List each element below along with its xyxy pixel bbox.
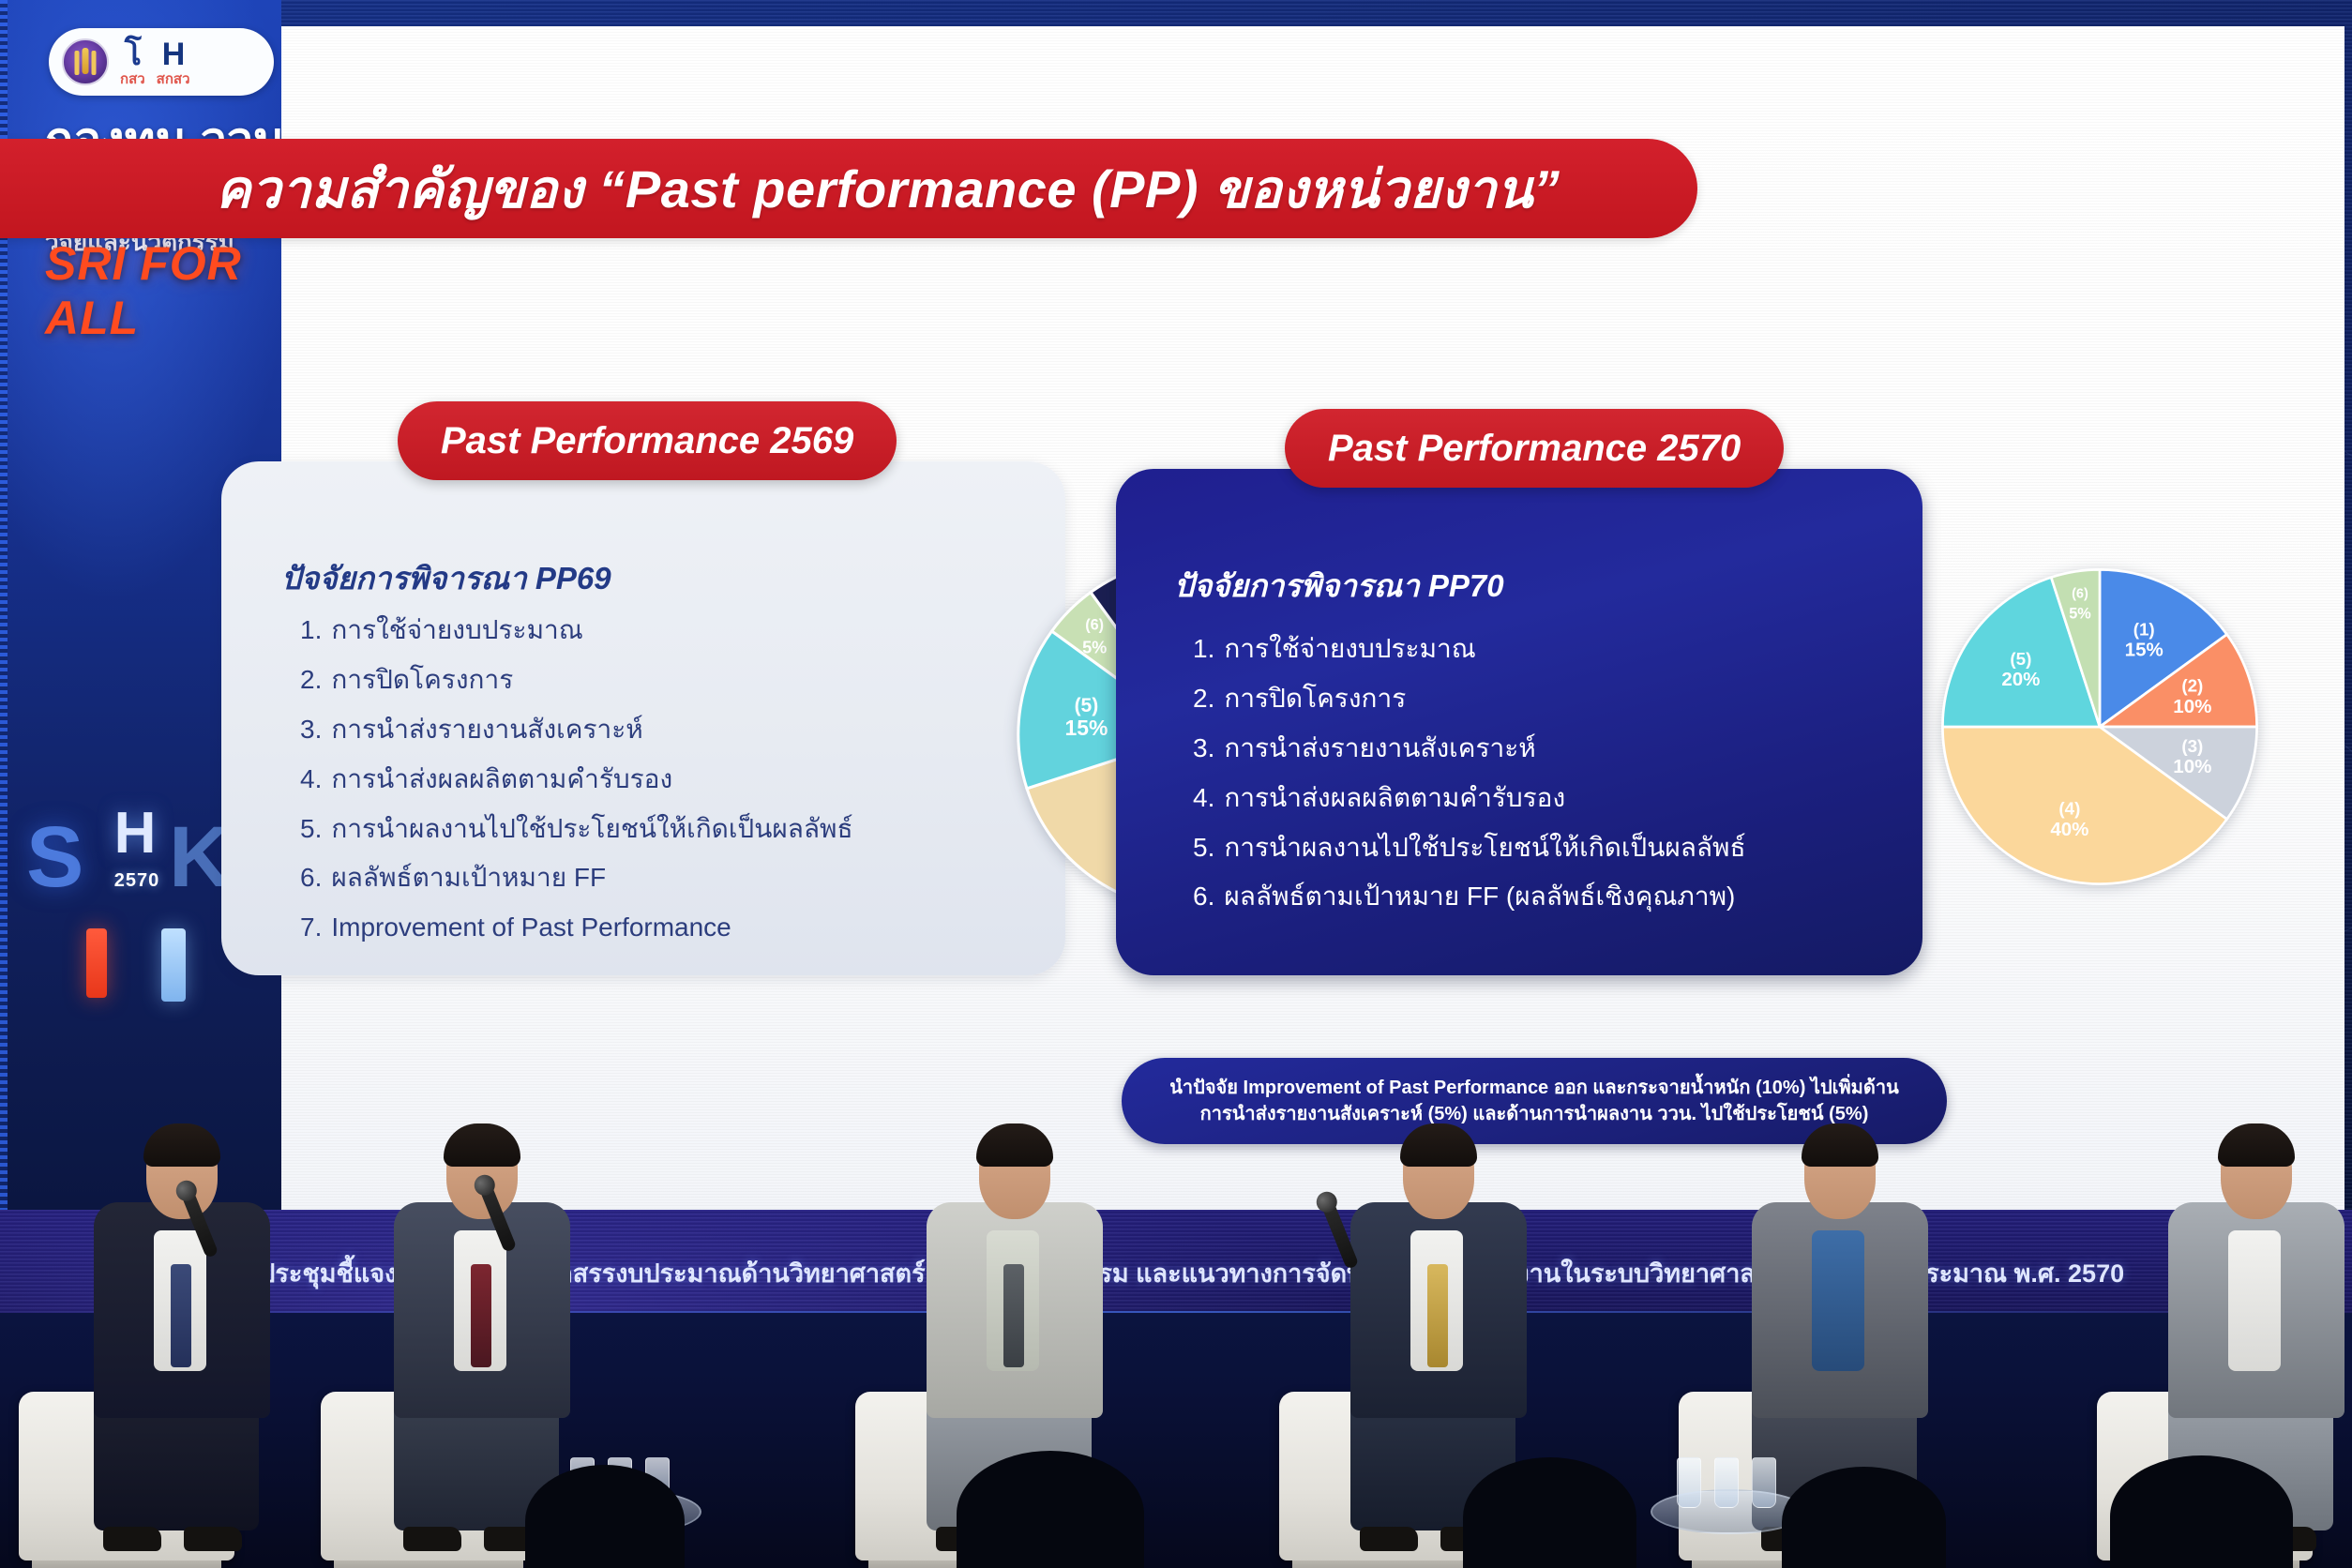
- slide-title-bar: ความสำคัญของ “Past performance (PP) ของห…: [0, 139, 1697, 238]
- organization-logo-pill: โ กสว H สกสว: [49, 28, 274, 96]
- pie-slice-value: 15%: [1064, 716, 1108, 740]
- necktie: [171, 1264, 191, 1367]
- list-item-number: 1.: [300, 611, 322, 650]
- necktie: [471, 1264, 491, 1367]
- list-item: 2.การปิดโครงการ: [1193, 680, 1849, 718]
- pie-slice-value: 10%: [2173, 696, 2211, 717]
- audience-head: [1782, 1467, 1946, 1568]
- list-item-number: 5.: [1193, 829, 1214, 867]
- list-item-number: 4.: [1193, 779, 1214, 818]
- list-item-label: การนำส่งรายงานสังเคราะห์: [331, 711, 863, 749]
- water-glass: [1714, 1457, 1739, 1508]
- kosowo-label: กสว: [120, 72, 145, 86]
- list-item-label: ผลลัพธ์ตามเป้าหมาย FF: [331, 859, 863, 897]
- list-item: 5.การนำผลงานไปใช้ประโยชน์ให้เกิดเป็นผลลั…: [1193, 829, 1849, 867]
- pie-slice-value: 15%: [2125, 640, 2164, 661]
- brand-tagline: SRI FOR ALL: [45, 236, 281, 345]
- stage-year-label: 2570: [98, 870, 176, 892]
- list-item-label: การใช้จ่ายงบประมาณ: [331, 611, 863, 650]
- shoe: [103, 1527, 161, 1551]
- list-item: 5.การนำผลงานไปใช้ประโยชน์ให้เกิดเป็นผลลั…: [300, 810, 863, 849]
- pie-slice-category: (2): [2181, 676, 2203, 696]
- event-ticker-text: จัดประชุมชี้แจงเป้าหมายการจัดสรรงบประมาณ…: [0, 1253, 2352, 1293]
- list-item-number: 6.: [300, 859, 322, 897]
- pie-slice-category: (4): [2058, 799, 2080, 819]
- audience-head: [2110, 1455, 2293, 1568]
- audience-head: [957, 1451, 1144, 1568]
- past-performance-2570-badge: Past Performance 2570: [1285, 409, 1784, 488]
- list-item-number: 2.: [300, 661, 322, 700]
- pie-slice-value: 5%: [1082, 638, 1107, 656]
- list-item: 6.ผลลัพธ์ตามเป้าหมาย FF: [300, 859, 863, 897]
- pie-slice-value: 20%: [2001, 669, 2040, 690]
- pp70-heading: ปัจจัยการพิจารณา PP70: [1174, 561, 1504, 611]
- pp69-heading: ปัจจัยการพิจารณา PP69: [281, 553, 611, 603]
- pie-slice-value: 5%: [2069, 606, 2090, 623]
- pie-slice-category: (5): [1075, 695, 1099, 716]
- list-item-number: 1.: [1193, 630, 1214, 669]
- pie-slice-value: 10%: [2173, 756, 2211, 777]
- list-item-number: 4.: [300, 761, 322, 799]
- pie-slice-category: (6): [1085, 616, 1104, 633]
- list-item-label: การปิดโครงการ: [1224, 680, 1849, 718]
- necktie: [1427, 1264, 1448, 1367]
- list-item-label: การปิดโครงการ: [331, 661, 863, 700]
- list-item-number: 3.: [1193, 730, 1214, 768]
- audience-head: [1463, 1457, 1636, 1568]
- ministry-seal-icon: [62, 38, 109, 85]
- list-item: 3.การนำส่งรายงานสังเคราะห์: [1193, 730, 1849, 768]
- shoe: [403, 1527, 461, 1551]
- pp70-pie-chart: (1)15%(2)10%(3)10%(4)40%(5)20%(6)5%: [1939, 566, 2260, 887]
- list-item-number: 3.: [300, 711, 322, 749]
- stage-logo-icon: H: [101, 805, 169, 872]
- pie-slice-category: (3): [2181, 736, 2203, 756]
- slide-title: ความสำคัญของ “Past performance (PP) ของห…: [216, 147, 1560, 231]
- sakosowo-logo-mark: H สกสว: [157, 38, 190, 86]
- list-item-number: 5.: [300, 810, 322, 849]
- screenshot-root: โ กสว H สกสว กองทุน ววน. กองทุนส่งเสริมว…: [0, 0, 2352, 1568]
- list-item: 1.การใช้จ่ายงบประมาณ: [300, 611, 863, 650]
- list-item: 2.การปิดโครงการ: [300, 661, 863, 700]
- list-item-label: การนำส่งผลผลิตตามคำรับรอง: [1224, 779, 1849, 818]
- shirt: [1812, 1230, 1864, 1371]
- past-performance-2569-badge: Past Performance 2569: [398, 401, 897, 480]
- pie-slice-category: (1): [2133, 619, 2155, 639]
- pp70-pie-svg: (1)15%(2)10%(3)10%(4)40%(5)20%(6)5%: [1939, 566, 2260, 887]
- list-item-number: 2.: [1193, 680, 1214, 718]
- list-item-label: การนำส่งผลผลิตตามคำรับรอง: [331, 761, 863, 799]
- list-item-label: Improvement of Past Performance: [331, 909, 863, 947]
- shirt: [2228, 1230, 2281, 1371]
- list-item: 6.ผลลัพธ์ตามเป้าหมาย FF (ผลลัพธ์เชิงคุณภ…: [1193, 878, 1849, 916]
- list-item: 3.การนำส่งรายงานสังเคราะห์: [300, 711, 863, 749]
- pie-slice-category: (6): [2072, 587, 2088, 602]
- sakosowo-label: สกสว: [157, 72, 190, 86]
- list-item-label: ผลลัพธ์ตามเป้าหมาย FF (ผลลัพธ์เชิงคุณภาพ…: [1224, 878, 1849, 916]
- list-item-number: 7.: [300, 909, 322, 947]
- list-item-label: การนำผลงานไปใช้ประโยชน์ให้เกิดเป็นผลลัพธ…: [1224, 829, 1849, 867]
- pp69-factor-list: 1.การใช้จ่ายงบประมาณ 2.การปิดโครงการ 3.ก…: [300, 611, 863, 958]
- list-item-number: 6.: [1193, 878, 1214, 916]
- pp70-factor-list: 1.การใช้จ่ายงบประมาณ 2.การปิดโครงการ 3.ก…: [1193, 630, 1849, 927]
- list-item-label: การนำส่งรายงานสังเคราะห์: [1224, 730, 1849, 768]
- water-glass: [1752, 1457, 1776, 1508]
- stage-bar-blue-decoration: [161, 928, 186, 1002]
- necktie: [1003, 1264, 1024, 1367]
- list-item: 4.การนำส่งผลผลิตตามคำรับรอง: [300, 761, 863, 799]
- water-glass: [1677, 1457, 1701, 1508]
- shoe: [184, 1527, 242, 1551]
- stage-glyph-s: S: [26, 808, 83, 907]
- pie-slice-category: (5): [2010, 649, 2031, 669]
- list-item-label: การนำผลงานไปใช้ประโยชน์ให้เกิดเป็นผลลัพธ…: [331, 810, 863, 849]
- audience-head: [525, 1465, 685, 1568]
- sakosowo-glyph-icon: H: [157, 38, 190, 70]
- list-item-label: การใช้จ่ายงบประมาณ: [1224, 630, 1849, 669]
- stage-bar-red-decoration: [86, 928, 107, 998]
- list-item: 4.การนำส่งผลผลิตตามคำรับรอง: [1193, 779, 1849, 818]
- list-item: 1.การใช้จ่ายงบประมาณ: [1193, 630, 1849, 669]
- list-item: 7.Improvement of Past Performance: [300, 909, 863, 947]
- pie-slice-value: 40%: [2050, 819, 2088, 840]
- kosowo-glyph-icon: โ: [120, 38, 145, 70]
- kosowo-logo-mark: โ กสว: [120, 38, 145, 86]
- shoe: [1360, 1527, 1418, 1551]
